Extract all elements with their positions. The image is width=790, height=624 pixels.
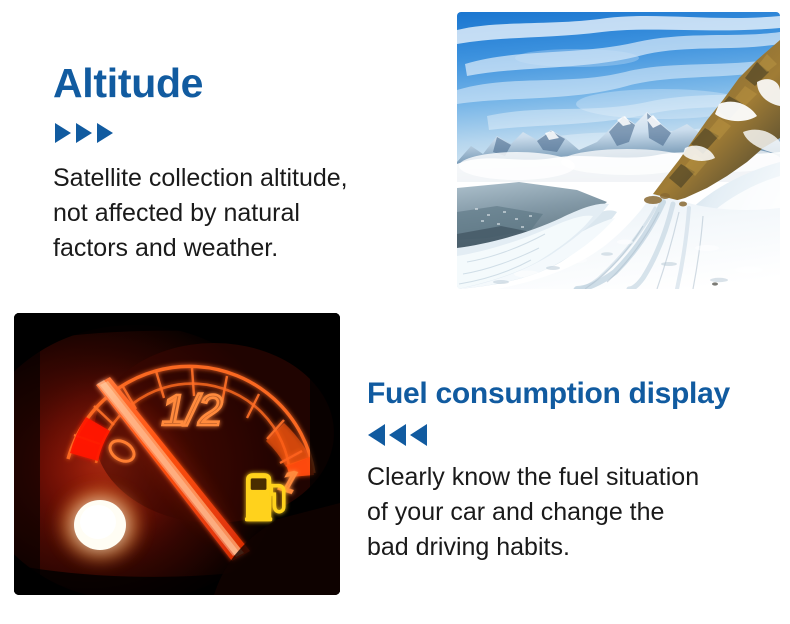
triangle-right-icon [97,123,113,143]
altitude-heading: Altitude [53,62,443,105]
feature-panel: Altitude Satellite collection altitude, … [0,0,790,624]
fuel-body-line: bad driving habits. [367,530,777,565]
car-fuel-gauge-photo: 1/2 1 [14,313,340,595]
gauge-label-half: 1/2 [161,386,222,435]
fuel-body-line: Clearly know the fuel situation [367,460,777,495]
altitude-body-text: Satellite collection altitude, not affec… [53,161,443,266]
altitude-body-line: Satellite collection altitude, [53,161,443,196]
triangle-left-icon [368,424,385,446]
altitude-arrow-marks [55,123,443,143]
fuel-heading: Fuel consumption display [367,378,777,410]
triangle-right-icon [55,123,71,143]
fuel-arrow-marks [368,424,777,446]
snowy-mountain-road-photo [457,12,780,289]
altitude-text-block: Altitude Satellite collection altitude, … [53,62,443,266]
triangle-left-icon [389,424,406,446]
triangle-left-icon [410,424,427,446]
altitude-body-line: not affected by natural [53,196,443,231]
fuel-body-line: of your car and change the [367,495,777,530]
fuel-text-block: Fuel consumption display Clearly know th… [367,378,777,565]
section-fuel: 1/2 1 [0,300,790,624]
section-altitude: Altitude Satellite collection altitude, … [0,0,790,300]
altitude-body-line: factors and weather. [53,231,443,266]
triangle-right-icon [76,123,92,143]
fuel-body-text: Clearly know the fuel situation of your … [367,460,777,565]
